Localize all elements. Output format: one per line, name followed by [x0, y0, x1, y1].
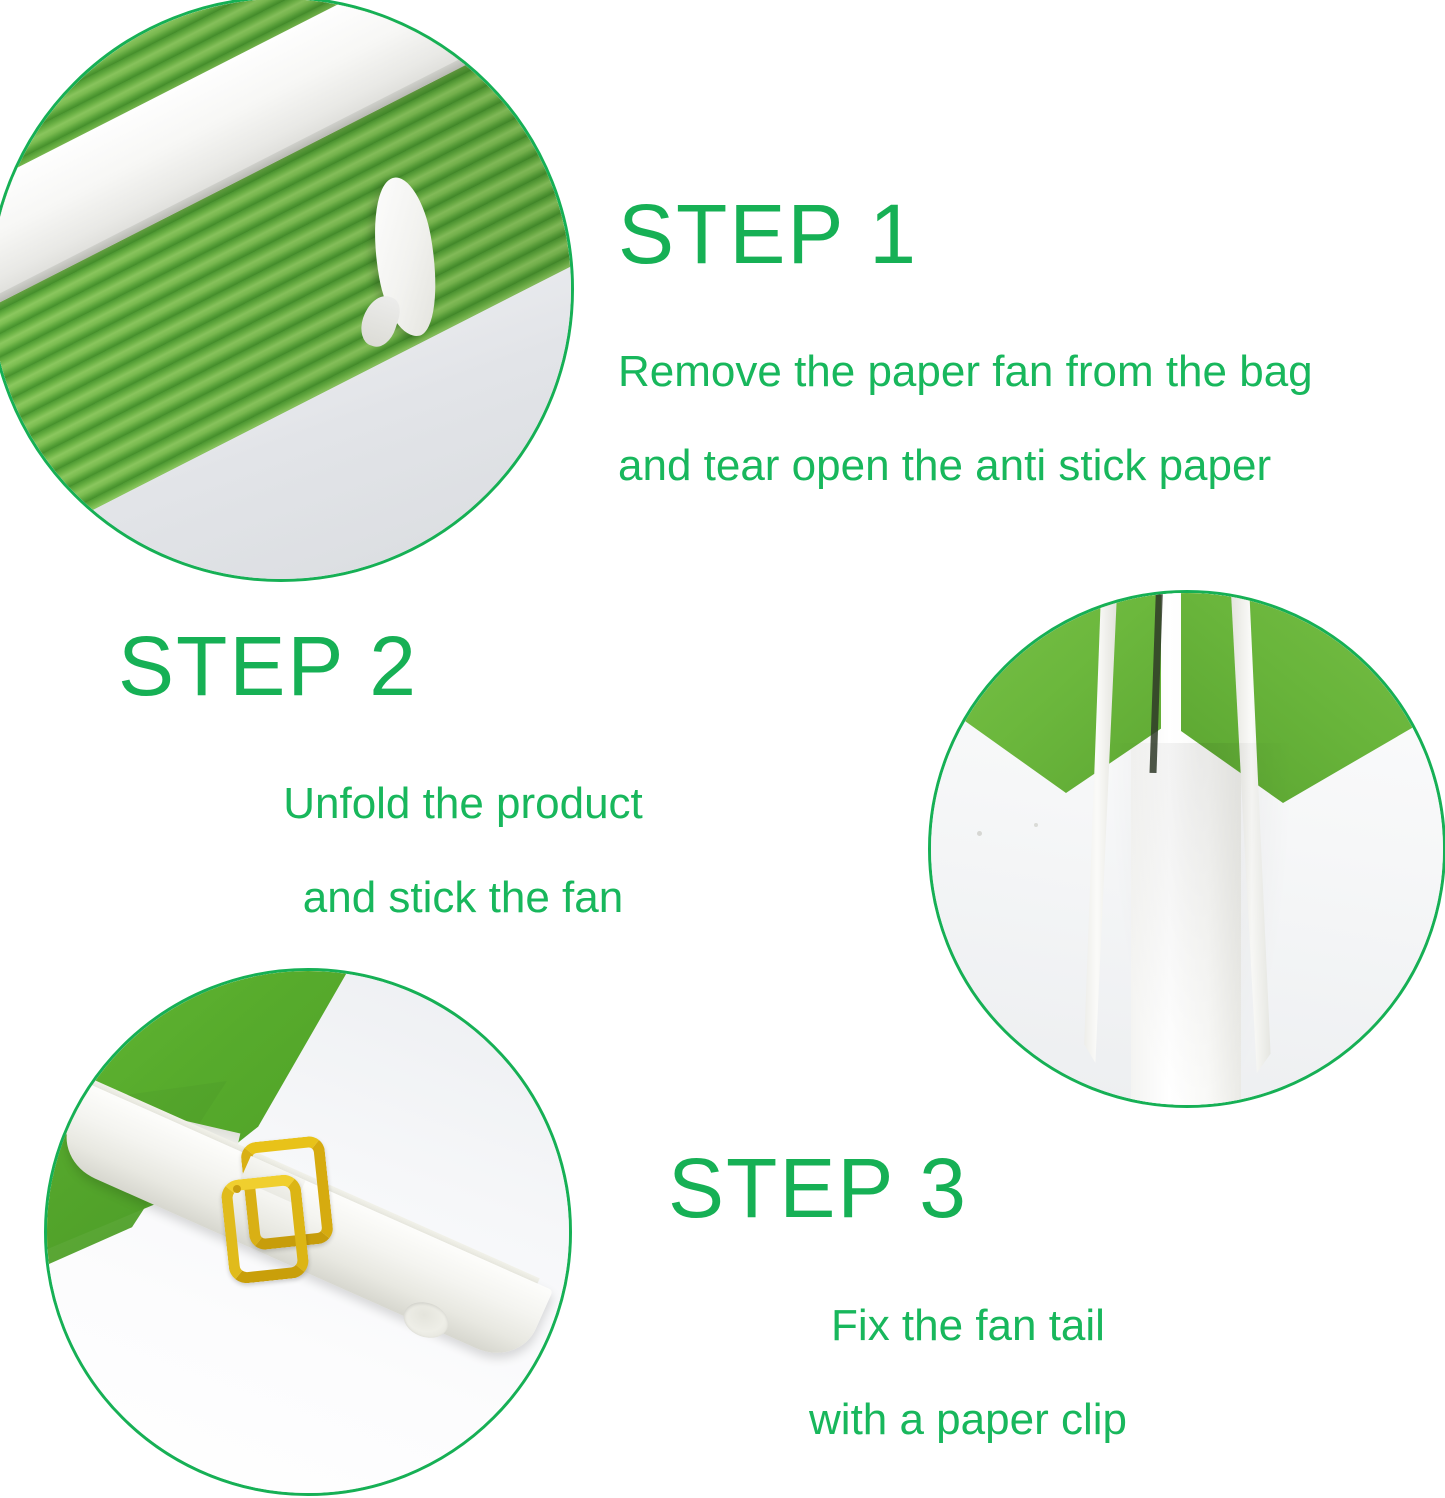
- step-2-title: STEP 2: [118, 624, 808, 708]
- step-2-description: Unfold the product and stick the fan: [118, 782, 808, 920]
- step-3-title: STEP 3: [668, 1146, 1268, 1230]
- paper-clip-tip: [233, 1185, 241, 1193]
- wall-speck-2: [1034, 823, 1038, 827]
- step-1-line-2: and tear open the anti stick paper: [618, 444, 1313, 488]
- wall-speck-1: [977, 831, 982, 836]
- unfolded-fan-photo: [931, 593, 1443, 1105]
- step-3-photo-circle: [44, 968, 572, 1496]
- step-1-photo-circle: [0, 0, 574, 582]
- fan-tail-paperclip-photo: [47, 971, 569, 1493]
- stand-shadow: [1111, 743, 1291, 1105]
- step-2-line-2: and stick the fan: [118, 876, 808, 920]
- step-3-description: Fix the fan tail with a paper clip: [668, 1304, 1268, 1442]
- instruction-infographic: STEP 1 Remove the paper fan from the bag…: [0, 0, 1445, 1498]
- step-2-line-1: Unfold the product: [118, 782, 808, 826]
- step-1-description: Remove the paper fan from the bag and te…: [618, 350, 1313, 488]
- pleated-green-fan-photo: [0, 0, 571, 579]
- step-1-line-1: Remove the paper fan from the bag: [618, 350, 1313, 394]
- step-3-text-block: STEP 3 Fix the fan tail with a paper cli…: [668, 1146, 1268, 1492]
- step-1-text-block: STEP 1 Remove the paper fan from the bag…: [618, 192, 1313, 538]
- step-2-photo-circle: [928, 590, 1445, 1108]
- step-2-text-block: STEP 2 Unfold the product and stick the …: [118, 624, 808, 970]
- step-1-title: STEP 1: [618, 192, 1313, 276]
- step-3-line-2: with a paper clip: [668, 1398, 1268, 1442]
- step-3-line-1: Fix the fan tail: [668, 1304, 1268, 1348]
